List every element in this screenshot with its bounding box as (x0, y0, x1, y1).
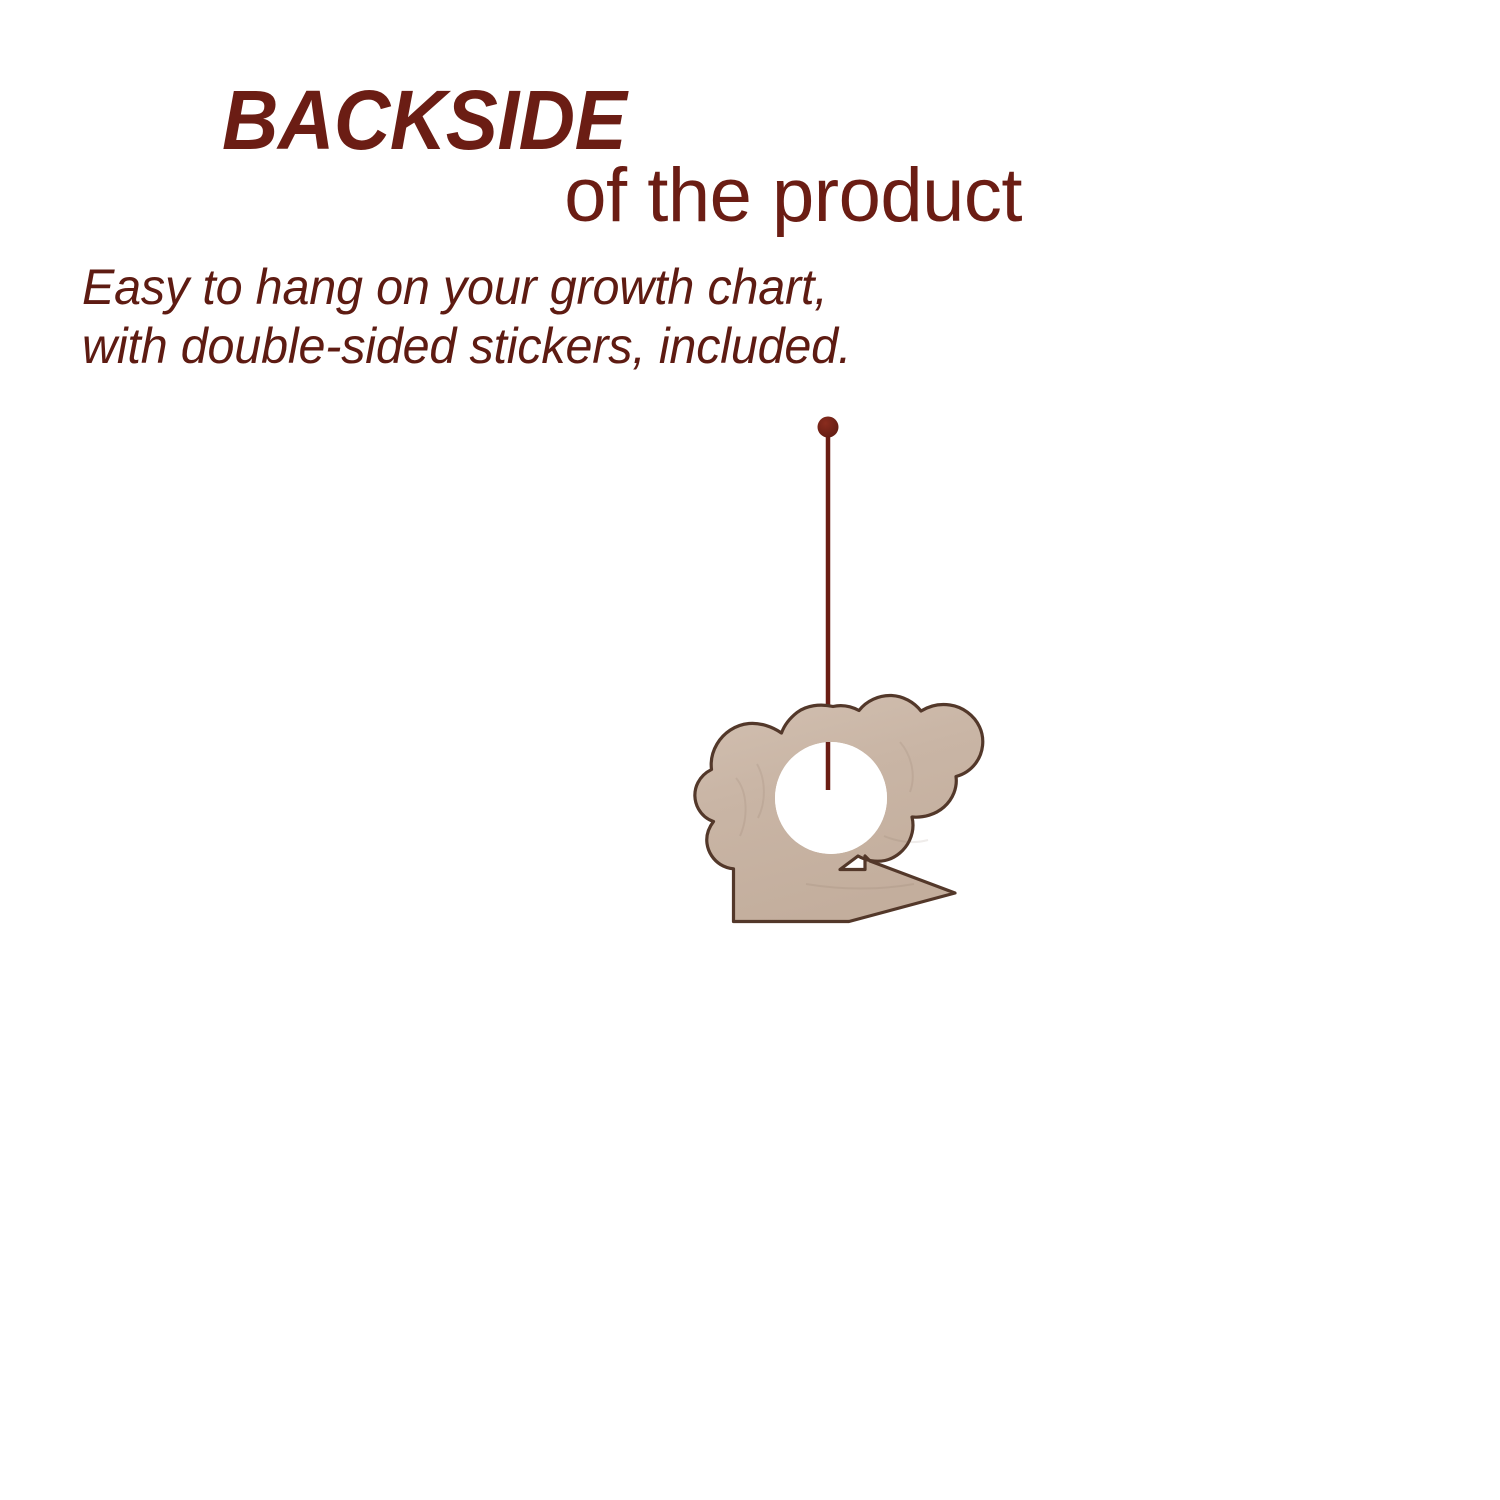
page-title-backside: BACKSIDE (222, 78, 626, 162)
tagline: Easy to hang on your growth chart, with … (82, 258, 851, 376)
circle-hole-icon (775, 742, 887, 854)
tagline-line-1: Easy to hang on your growth chart, (82, 258, 851, 317)
cloud-arrow-icon (695, 695, 983, 921)
pin-dot-icon (818, 417, 839, 438)
product-illustration-page: BACKSIDE of the product Easy to hang on … (0, 0, 1500, 1500)
tagline-line-2: with double-sided stickers, included. (82, 317, 851, 376)
page-title-of-the-product: of the product (0, 158, 1022, 234)
